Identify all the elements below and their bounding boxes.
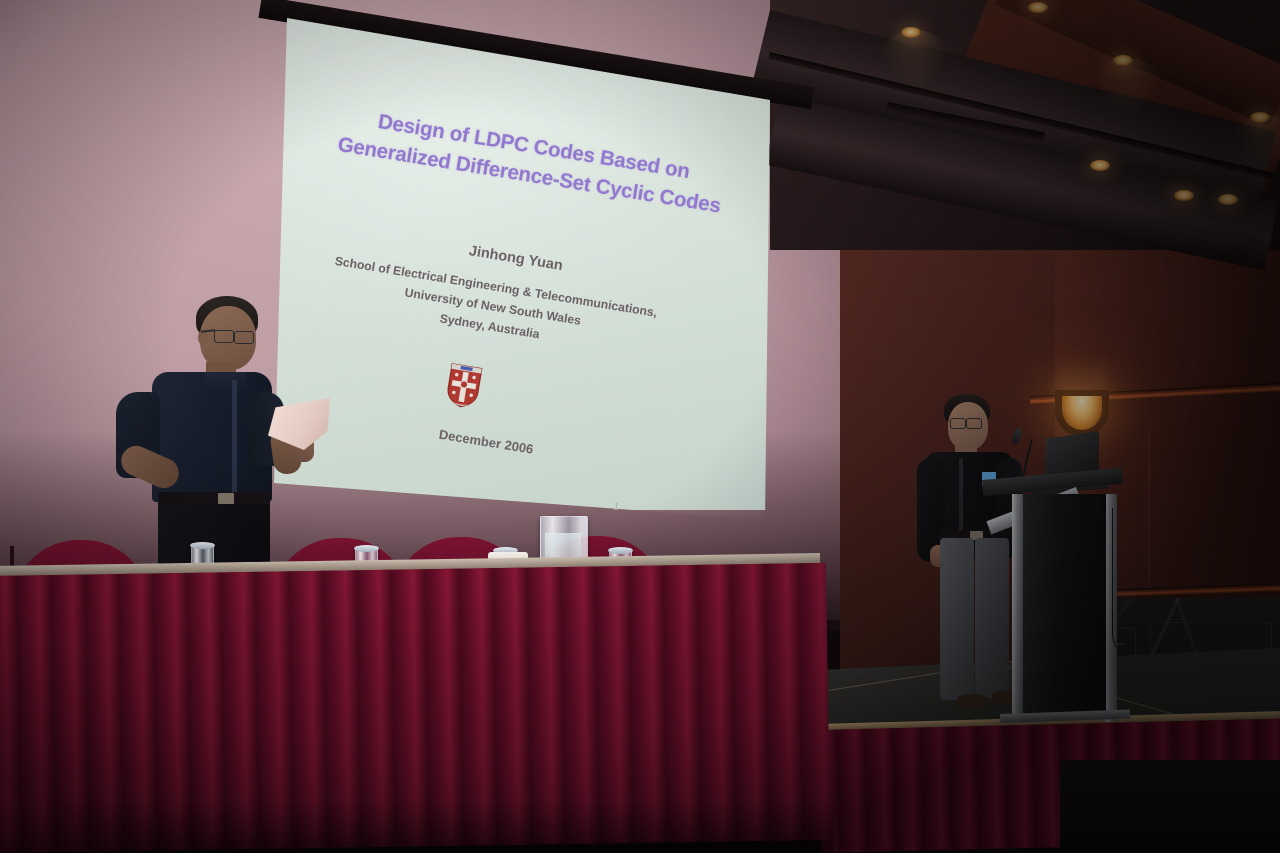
ceiling-downlight-4 xyxy=(1090,160,1110,171)
lectern-rail-left xyxy=(1012,494,1023,722)
presenter-shoe-left xyxy=(957,694,989,707)
unsw-crest-svg xyxy=(443,362,484,411)
slide-number: 1 xyxy=(612,501,619,513)
ceiling-downlight-5 xyxy=(1174,190,1194,201)
chairperson-glasses-right-lens xyxy=(234,331,254,344)
chairperson-glasses-left-lens xyxy=(214,330,234,343)
chairperson-collar xyxy=(204,372,246,390)
ceiling-downlight-2 xyxy=(1113,55,1133,66)
lectern-cable xyxy=(1112,508,1139,658)
ceiling-downlight-3 xyxy=(1250,112,1270,123)
chairperson-belt xyxy=(158,492,270,504)
downlight-glow-1 xyxy=(880,30,950,88)
presenter-glasses-right-lens xyxy=(966,418,982,429)
presenter-leg-left xyxy=(940,538,974,700)
chairperson-belt-buckle xyxy=(218,493,234,504)
chairperson-shirt-placket xyxy=(232,380,237,498)
presenter-leg-right xyxy=(975,538,1009,698)
stage-floor-cable xyxy=(1040,676,1111,702)
slide-title: Design of LDPC Codes Based on Generalize… xyxy=(330,100,734,221)
downlight-glow-2 xyxy=(1093,58,1163,116)
conference-room-photo: Design of LDPC Codes Based on Generalize… xyxy=(0,0,1280,853)
ceiling-downlight-7 xyxy=(1028,2,1048,13)
head-table-skirt-shadow xyxy=(0,800,834,853)
ceiling-downlight-1 xyxy=(901,27,921,38)
presenter-glasses-left-lens xyxy=(950,418,966,429)
ceiling-downlight-6 xyxy=(1218,194,1238,205)
right-wall-panel-seam xyxy=(1148,430,1150,610)
chairperson-ear xyxy=(198,330,208,345)
floor xyxy=(1060,760,1280,853)
slide: Design of LDPC Codes Based on Generalize… xyxy=(187,0,764,593)
unsw-crest-logo xyxy=(443,362,484,411)
projection-screen: Design of LDPC Codes Based on Generalize… xyxy=(270,0,800,520)
slide-date: December 2006 xyxy=(288,402,685,481)
